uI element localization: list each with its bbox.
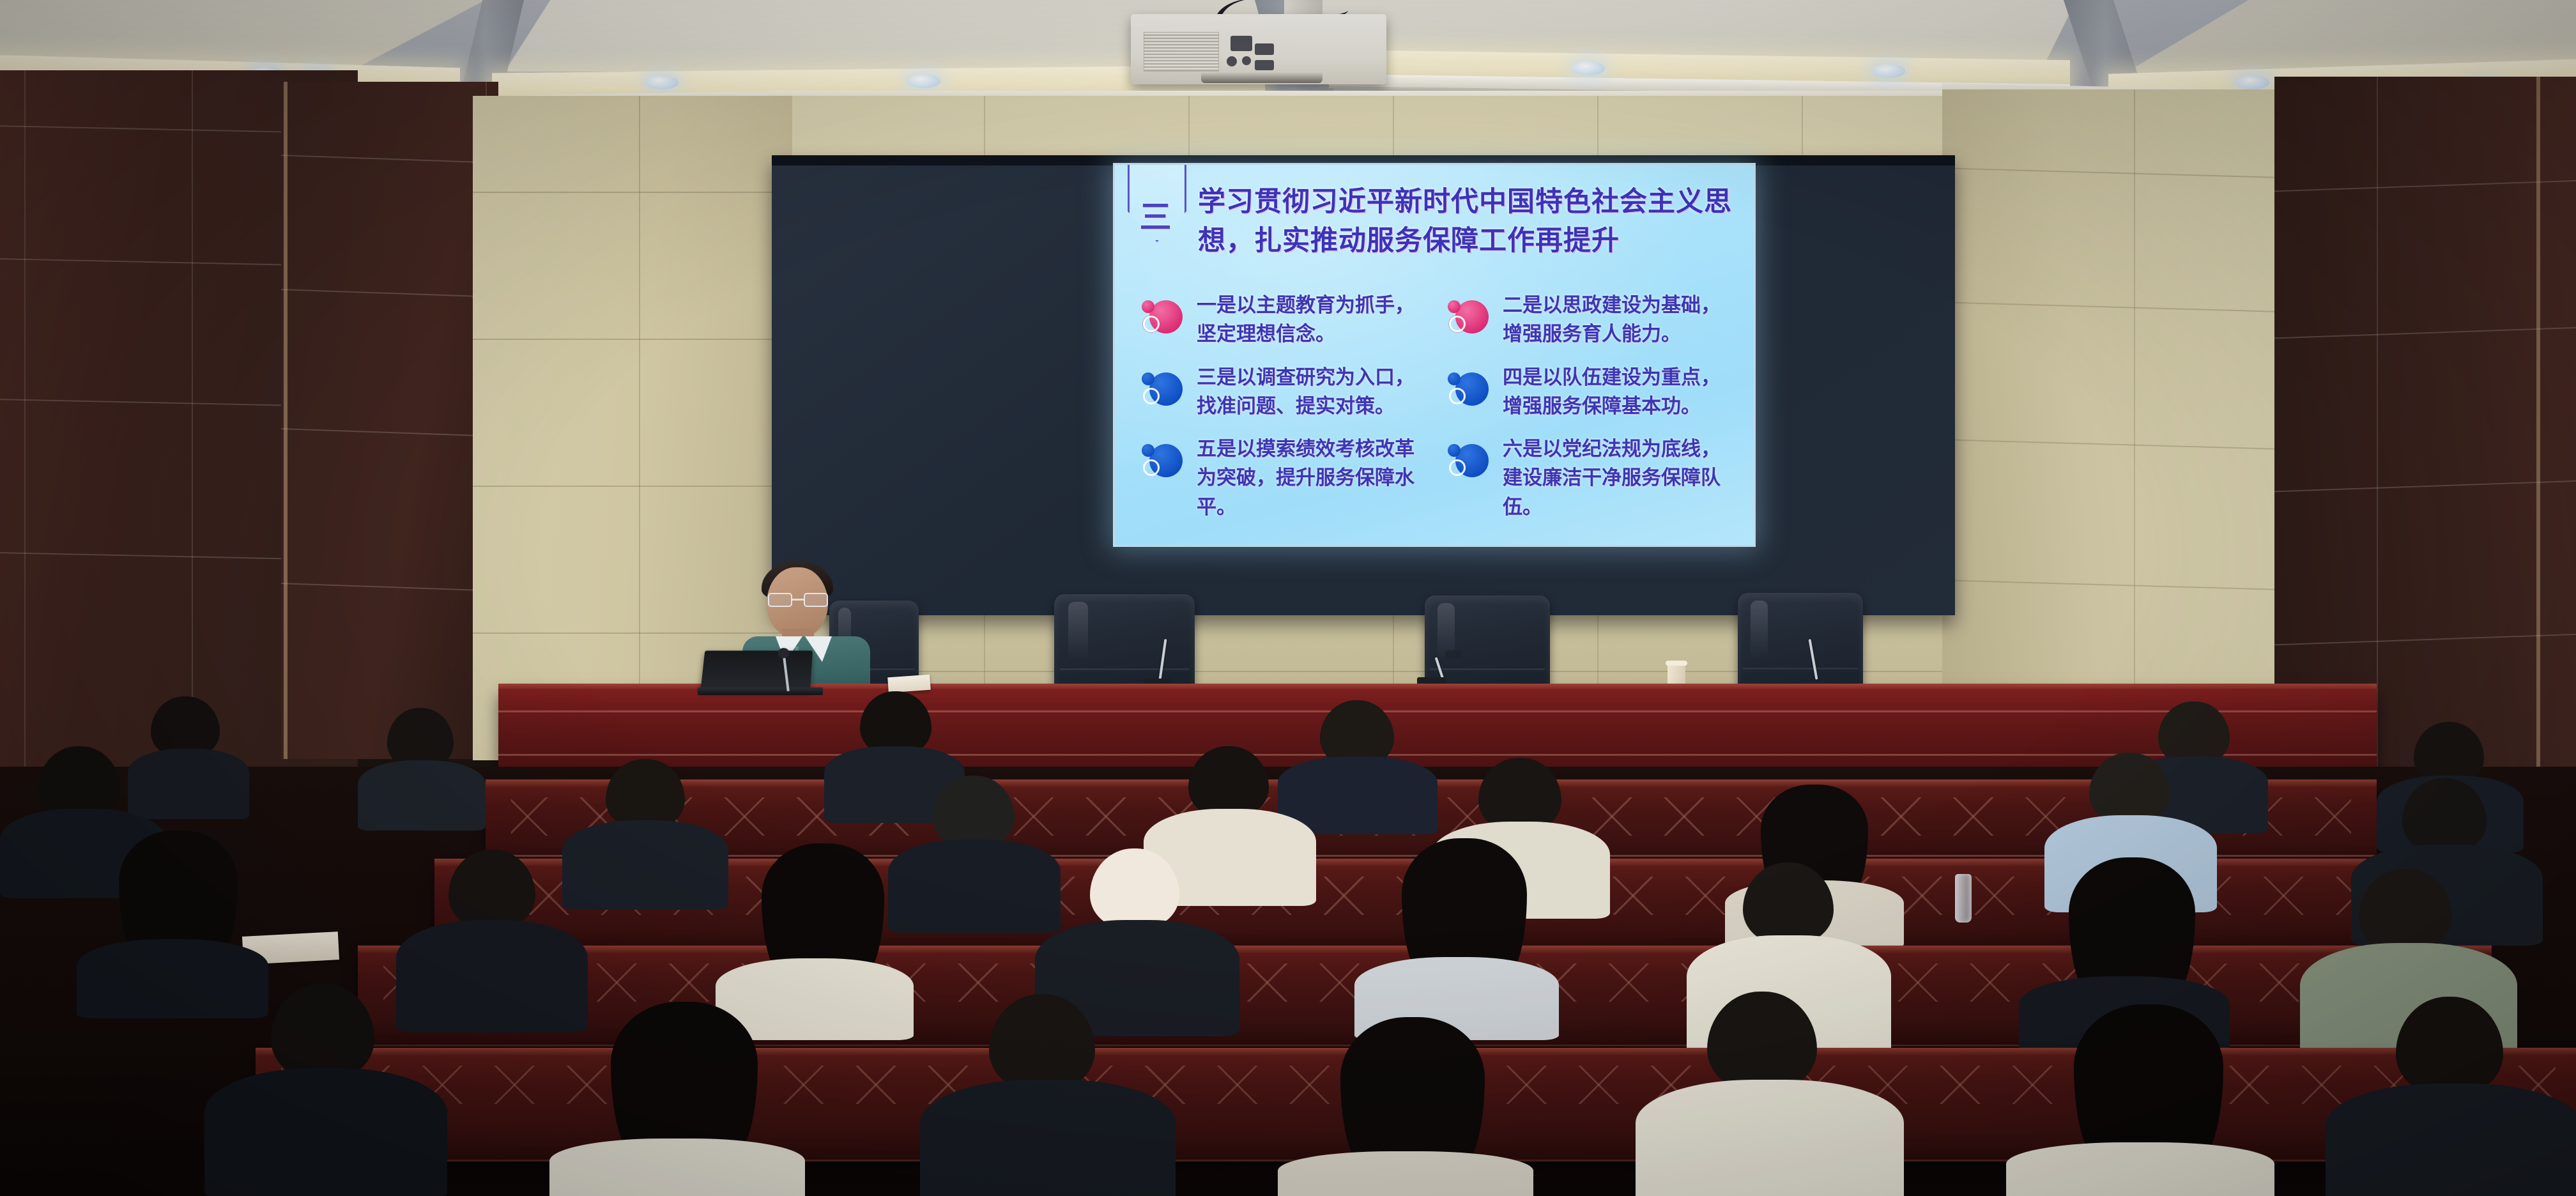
backdrop-top-trim [772,155,1955,165]
chapter-badge: 三 [1123,183,1189,252]
water-bottle [1955,874,1972,923]
person-head [2359,869,2452,952]
audience-person [1636,992,1904,1196]
bullet-dot-blue-icon [1139,440,1188,485]
paper-sheet [887,675,931,693]
person-hair-long [2074,1004,2223,1161]
slide-bullet-4: 四是以队伍建设为重点，增强服务保障基本功。 [1439,362,1736,422]
presenter-laptop-base [698,687,823,695]
audience-person [920,994,1176,1196]
bullet-dot-blue-icon [1139,369,1188,413]
projector-port [1255,43,1274,55]
audience-person [549,1002,805,1196]
slide-bullet-text: 六是以党纪法规为底线，建设廉洁干净服务保障队伍。 [1494,434,1736,522]
slide-title: 学习贯彻习近平新时代中国特色社会主义思想，扎实推动服务保障工作再提升 [1189,183,1754,261]
person-head [1478,758,1561,832]
slide-bullet-5: 五是以摸索绩效考核改革为突破，提升服务保障水平。 [1133,434,1430,522]
audience-person [358,708,486,823]
person-hair-long [2069,857,2195,995]
downlight-icon [907,74,940,88]
person-torso [204,1068,447,1196]
person-head [2396,997,2503,1095]
person-head [989,994,1095,1091]
person-torso [1636,1080,1904,1196]
bullet-dot-pink-icon [1445,296,1494,341]
slide-bullet-text: 二是以思政建设为基础，增强服务育人能力。 [1494,290,1736,349]
person-head [1743,862,1834,944]
person-head [38,746,120,819]
person-torso [358,760,486,831]
projector-port [1230,36,1252,51]
wall-panel-dark-left-inner [281,82,498,759]
person-head [1188,746,1269,818]
slide-bullet-text: 五是以摸索绩效考核改革为突破，提升服务保障水平。 [1188,434,1430,522]
person-hair-long [611,1002,758,1158]
slide-bullet-grid: 一是以主题教育为抓手，坚定理想信念。 二是以思政建设为基础，增强服务育人能力。 … [1133,290,1736,522]
downlight-icon [1572,61,1605,75]
downlight-icon [645,75,678,89]
person-torso [549,1138,805,1196]
person-head [606,759,685,829]
person-head [860,691,931,755]
person-head [271,984,374,1080]
downlight-icon [1872,64,1905,78]
chapter-number: 三 [1140,192,1172,238]
bullet-dot-blue-icon [1445,369,1494,413]
person-head [933,776,1015,848]
stage-chair-3 [1738,593,1863,691]
audience-person [2006,1004,2274,1196]
audience-person [77,831,268,1009]
slide-bullet-3: 三是以调查研究为入口，找准问题、提实对策。 [1133,362,1430,422]
wall-panel-beige-right [1942,89,2300,767]
slide-bullet-1: 一是以主题教育为抓手，坚定理想信念。 [1133,290,1430,349]
person-hair-long [1340,1017,1485,1169]
slide-bullet-6: 六是以党纪法规为底线，建设廉洁干净服务保障队伍。 [1439,434,1736,522]
person-hair-long [762,843,884,976]
person-head [1090,848,1179,929]
downlight-icon [2236,75,2269,89]
audience-person [1354,838,1559,1030]
bullet-dot-pink-icon [1139,296,1188,341]
person-torso [1278,1151,1533,1196]
stage-chair-1 [1054,594,1195,691]
microphone-head [1445,650,1462,659]
projector-port [1242,56,1251,65]
slide-bullet-text: 三是以调查研究为入口，找准问题、提实对策。 [1188,362,1430,422]
projector-lens [1201,72,1322,83]
person-head [2402,778,2487,854]
conference-hall-photo: 三 学习贯彻习近平新时代中国特色社会主义思想，扎实推动服务保障工作再提升 一是以… [0,0,2576,1196]
audience-person [2326,997,2576,1196]
projector-port [1255,60,1274,70]
bullet-dot-blue-icon [1445,440,1494,485]
person-torso [920,1080,1176,1196]
slide-bullet-2: 二是以思政建设为基础，增强服务育人能力。 [1439,290,1736,349]
presenter-laptop [701,650,813,690]
projected-slide: 三 学习贯彻习近平新时代中国特色社会主义思想，扎实推动服务保障工作再提升 一是以… [1115,165,1754,545]
audience-person [204,984,447,1196]
slide-bullet-text: 四是以队伍建设为重点，增强服务保障基本功。 [1494,362,1736,422]
audience-person [716,843,914,1029]
person-head [448,850,535,929]
person-torso [2006,1142,2274,1196]
projector-vent-grille [1144,32,1219,72]
person-head [2089,753,2170,824]
slide-bullet-text: 一是以主题教育为抓手，坚定理想信念。 [1188,290,1430,349]
glasses-icon [767,593,829,607]
person-head [1707,992,1817,1091]
person-torso [2326,1084,2576,1196]
audience-person [1278,1017,1533,1196]
slide-title-row: 三 学习贯彻习近平新时代中国特色社会主义思想，扎实推动服务保障工作再提升 [1115,183,1754,261]
projector-port [1227,56,1237,66]
